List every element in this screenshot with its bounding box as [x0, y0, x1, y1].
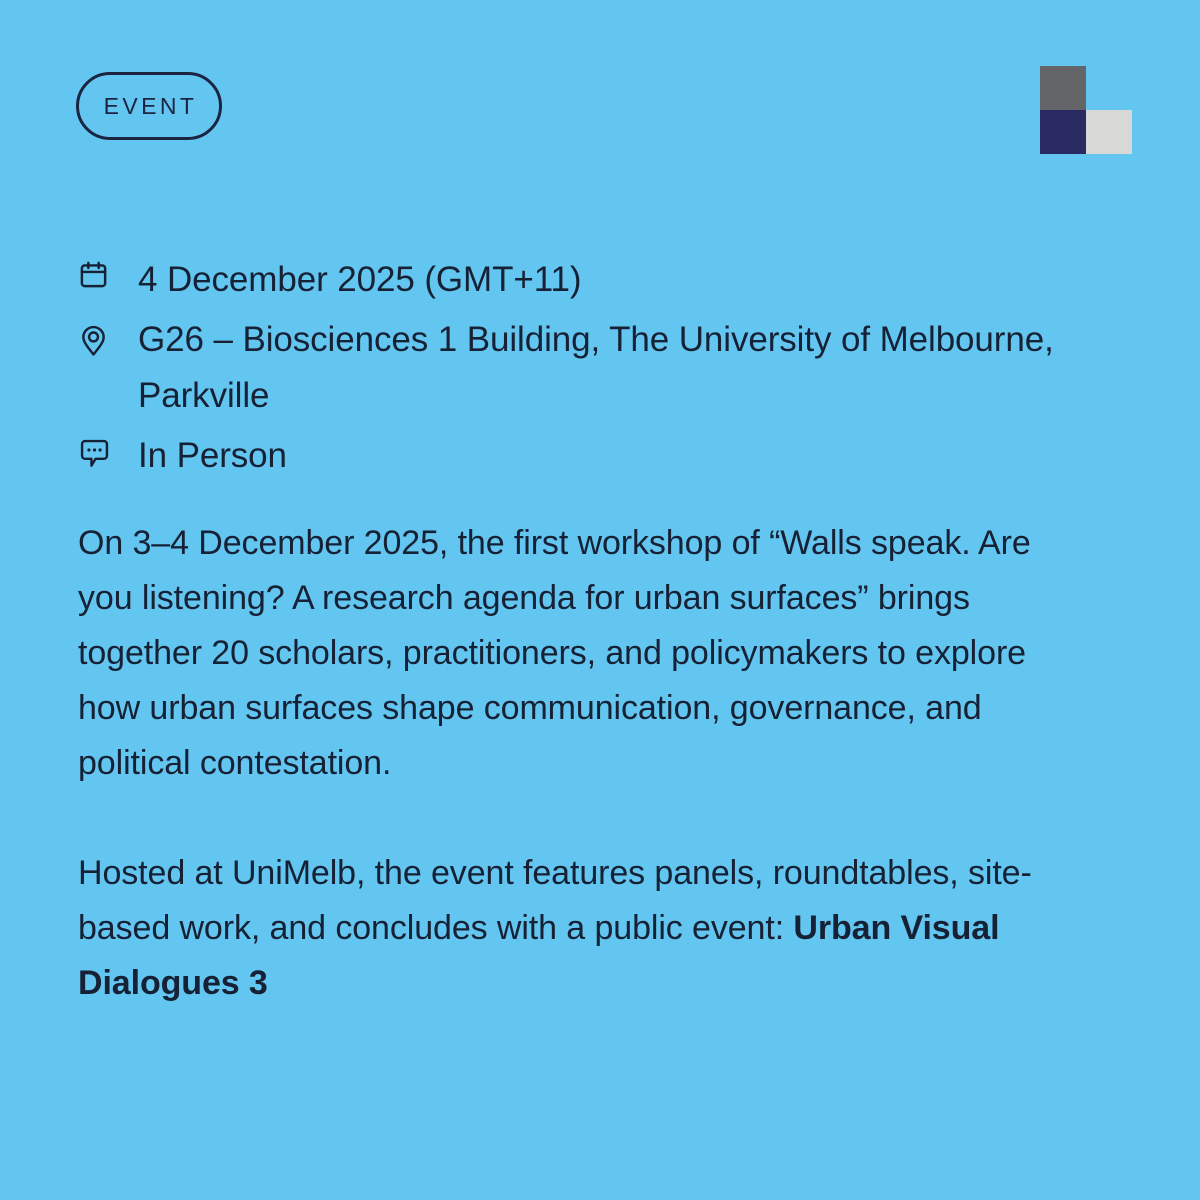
event-description: On 3–4 December 2025, the first workshop… [78, 516, 1078, 1011]
description-paragraph-1: On 3–4 December 2025, the first workshop… [78, 516, 1068, 791]
event-location-text: G26 – Biosciences 1 Building, The Univer… [138, 312, 1088, 424]
speech-bubble-icon [78, 428, 112, 478]
logo-cell-bottom-left [1040, 110, 1086, 154]
event-date-row: 4 December 2025 (GMT+11) [78, 252, 1088, 308]
event-location-row: G26 – Biosciences 1 Building, The Univer… [78, 312, 1088, 424]
logo-cell-bottom-right [1086, 110, 1132, 154]
map-pin-icon [78, 312, 112, 368]
event-badge-label: EVENT [101, 95, 198, 118]
brand-logo-mark [1040, 66, 1132, 154]
event-badge: EVENT [76, 72, 222, 140]
card-header: EVENT [0, 0, 1200, 180]
event-meta-list: 4 December 2025 (GMT+11) G26 – Bioscienc… [78, 252, 1088, 488]
logo-cell-top-left [1040, 66, 1086, 110]
logo-cell-top-right [1086, 66, 1132, 110]
event-mode-row: In Person [78, 428, 1088, 484]
calendar-icon [78, 252, 112, 296]
description-paragraph-2: Hosted at UniMelb, the event features pa… [78, 846, 1068, 1011]
event-date-text: 4 December 2025 (GMT+11) [138, 252, 581, 308]
event-card: EVENT 4 December 2025 (GMT+11) [0, 0, 1200, 1200]
event-mode-text: In Person [138, 428, 287, 484]
